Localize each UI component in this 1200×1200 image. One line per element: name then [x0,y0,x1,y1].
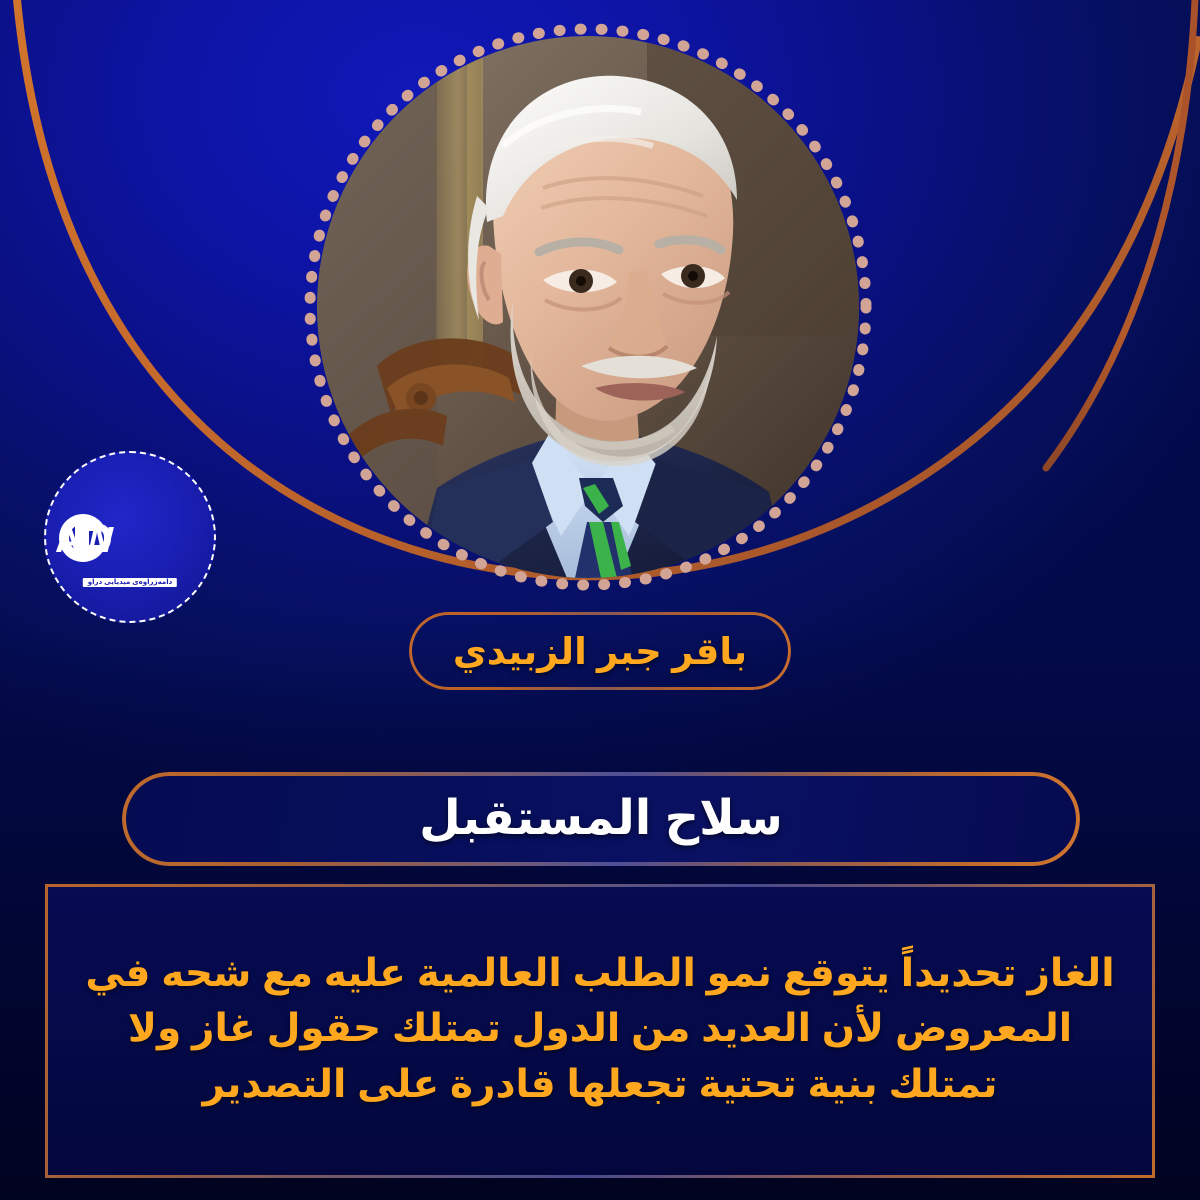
logo-wordmark-icon: RAW [55,510,205,570]
arc-right [1046,0,1196,468]
draw-logo[interactable]: RAW دامەزراوەی میدیایی دراو [44,451,216,623]
headline-title: سلاح المستقبل [419,795,783,843]
person-name: باقر جبر الزبيدي [453,633,747,670]
quote-line: الغاز تحديداً يتوقع نمو الطلب العالمية ع… [61,946,1139,1001]
svg-text:RAW: RAW [55,519,115,560]
portrait-dotted-border [303,22,873,592]
social-media-card: صورة شخصية لرجل مسن بشعر ولحية بيضاء يرت… [0,0,1200,1200]
quote-box: الغاز تحديداً يتوقع نمو الطلب العالمية ع… [45,884,1155,1178]
portrait-avatar: صورة شخصية لرجل مسن بشعر ولحية بيضاء يرت… [303,22,873,592]
logo-tagline: دامەزراوەی میدیایی دراو [88,579,172,586]
quote-line: تمتلك بنية تحتية تجعلها قادرة على التصدي… [61,1057,1139,1112]
headline-pill: سلاح المستقبل [122,772,1080,866]
quote-lines: الغاز تحديداً يتوقع نمو الطلب العالمية ع… [45,884,1155,1178]
person-name-badge: باقر جبر الزبيدي [409,612,791,690]
logo-tagline-plate: دامەزراوەی میدیایی دراو [83,578,177,587]
quote-line: المعروض لأن العديد من الدول تمتلك حقول غ… [61,1001,1139,1056]
